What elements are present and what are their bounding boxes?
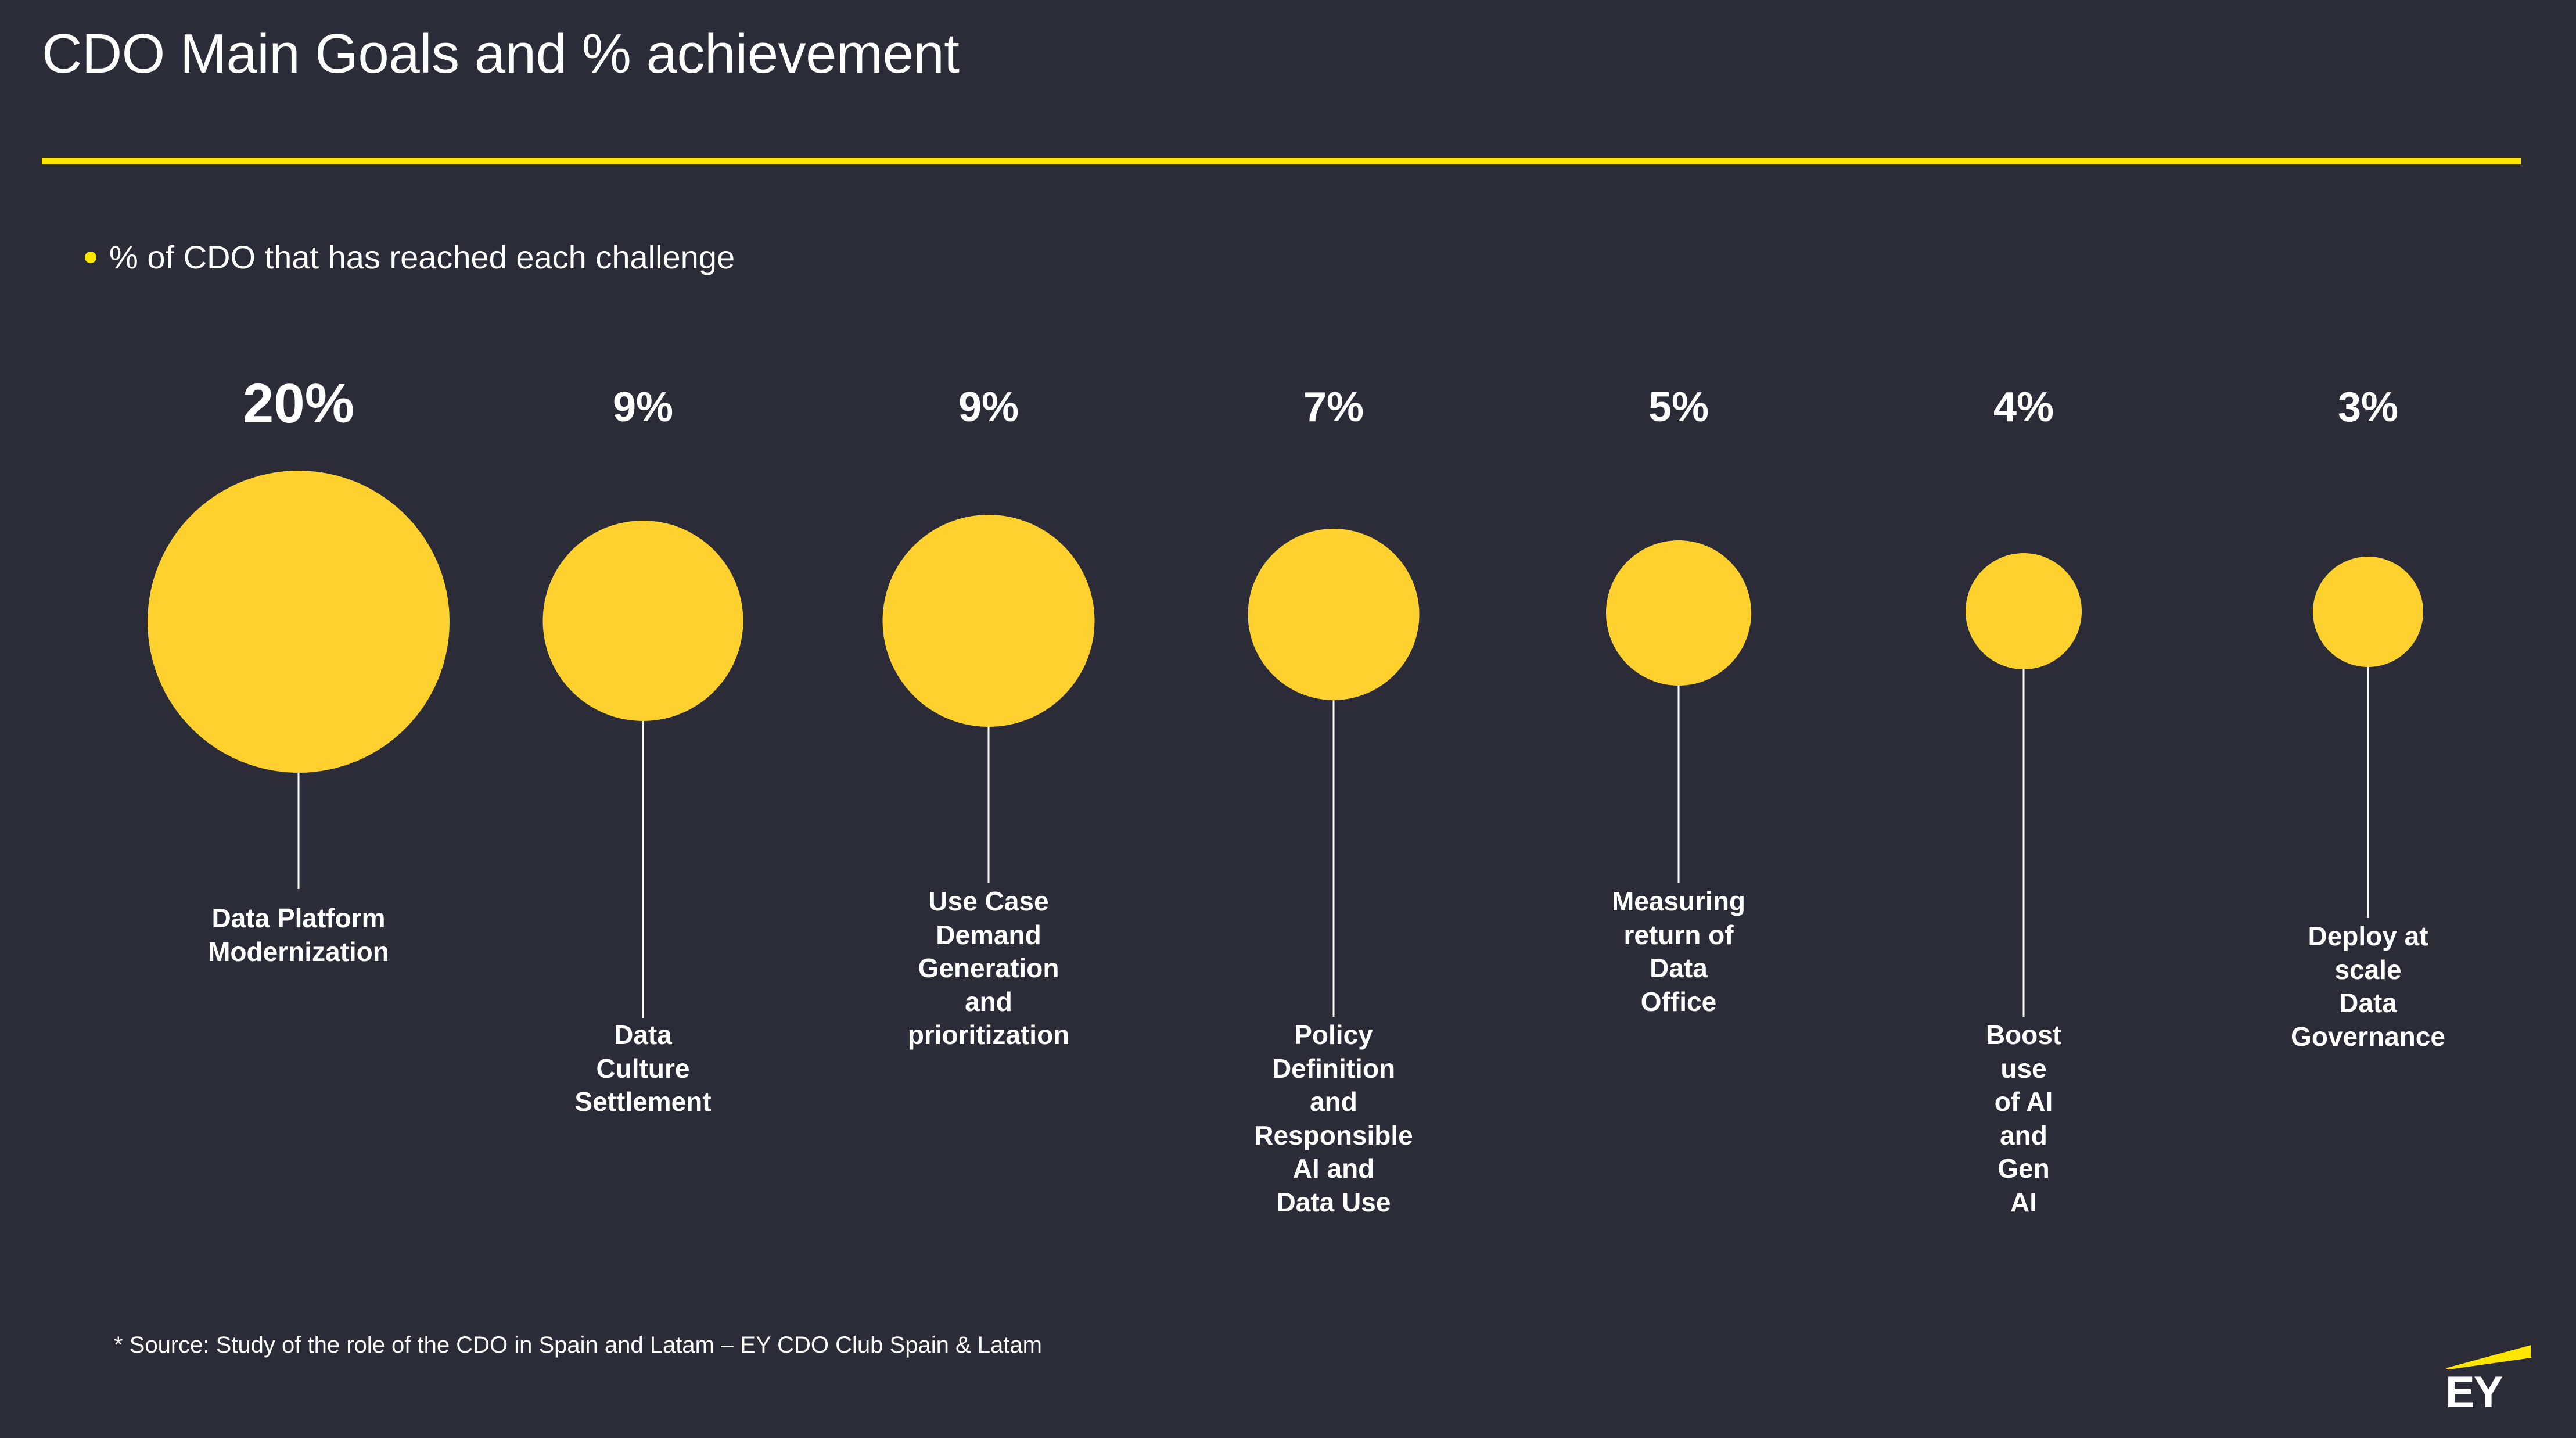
bubble-value-label: 3%	[2338, 383, 2398, 431]
bubble-circle[interactable]	[148, 471, 450, 773]
bubble-leader-line	[2023, 616, 2025, 1017]
bubble-circle[interactable]	[543, 521, 743, 721]
bubble-circle[interactable]	[883, 515, 1095, 727]
bubble-category-label: Data Culture Settlement	[574, 1019, 711, 1119]
bubble-value-label: 20%	[243, 372, 354, 436]
ey-logo: EY	[2445, 1345, 2538, 1421]
source-footnote: * Source: Study of the role of the CDO i…	[114, 1332, 1042, 1358]
bubble-chart: 20%Data Platform Modernization9%Data Cul…	[0, 0, 2576, 1438]
bubble-value-label: 4%	[1993, 383, 2054, 431]
ey-wordmark: EY	[2445, 1371, 2531, 1415]
bubble-category-label: Boost use of AI and Gen AI	[1986, 1019, 2061, 1219]
ey-beam-icon	[2445, 1345, 2531, 1369]
bubble-circle[interactable]	[1606, 540, 1751, 686]
bubble-category-label: Deploy at scale Data Governance	[2291, 920, 2445, 1053]
bubble-value-label: 9%	[958, 383, 1019, 431]
bubble-value-label: 5%	[1648, 383, 1709, 431]
bubble-circle[interactable]	[1248, 529, 1420, 700]
bubble-circle[interactable]	[1966, 553, 2082, 669]
bubble-value-label: 7%	[1303, 383, 1364, 431]
bubble-category-label: Data Platform Modernization	[208, 902, 389, 969]
bubble-value-label: 9%	[613, 383, 673, 431]
bubble-category-label: Measuring return of Data Office	[1612, 885, 1745, 1019]
bubble-category-label: Policy Definition and Responsible AI and…	[1254, 1019, 1413, 1219]
bubble-category-label: Use Case Demand Generation and prioritiz…	[908, 885, 1070, 1052]
bubble-circle[interactable]	[2313, 557, 2423, 667]
slide-canvas: CDO Main Goals and % achievement % of CD…	[0, 0, 2576, 1438]
